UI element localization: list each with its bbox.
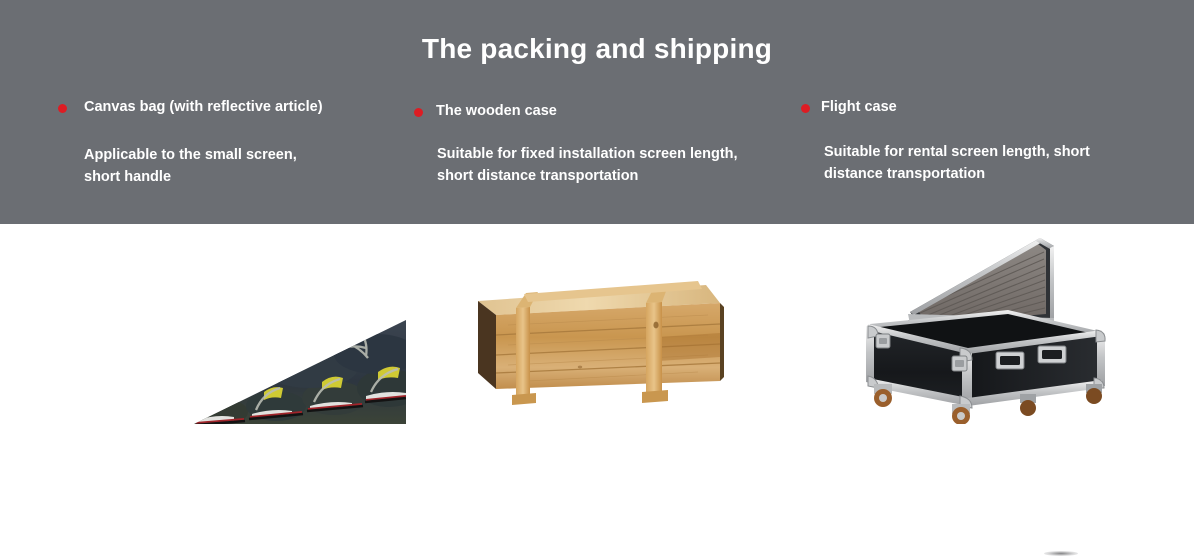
column-heading-flight-case: Flight case: [795, 98, 1175, 116]
page-title: The packing and shipping: [0, 32, 1194, 66]
column-description-wooden-case: Suitable for fixed installation screen l…: [410, 143, 790, 187]
slide-canvas: The packing and shipping Canvas bag (wit…: [0, 0, 1194, 558]
column-heading-text: The wooden case: [436, 103, 557, 119]
column-description-canvas-bag: Applicable to the small screen, short ha…: [58, 144, 418, 188]
red-dot-icon: [801, 104, 810, 113]
wooden-case-photo: [468, 277, 726, 410]
column-flight-case: Flight case Suitable for rental screen l…: [795, 98, 1175, 185]
column-wooden-case: The wooden case Suitable for fixed insta…: [410, 98, 790, 187]
column-heading-wooden-case: The wooden case: [410, 98, 790, 120]
column-heading-text: Canvas bag (with reflective article): [84, 99, 323, 115]
column-heading-text: Flight case: [821, 99, 897, 115]
bottom-edge-shadow: [1044, 551, 1078, 556]
column-description-flight-case: Suitable for rental screen length, short…: [795, 141, 1175, 185]
column-canvas-bag: Canvas bag (with reflective article) App…: [58, 98, 418, 188]
flight-case-photo: [848, 234, 1128, 424]
red-dot-icon: [414, 108, 423, 117]
column-heading-canvas-bag: Canvas bag (with reflective article): [58, 98, 418, 116]
red-dot-icon: [58, 104, 67, 113]
canvas-bag-photo: [186, 320, 406, 432]
